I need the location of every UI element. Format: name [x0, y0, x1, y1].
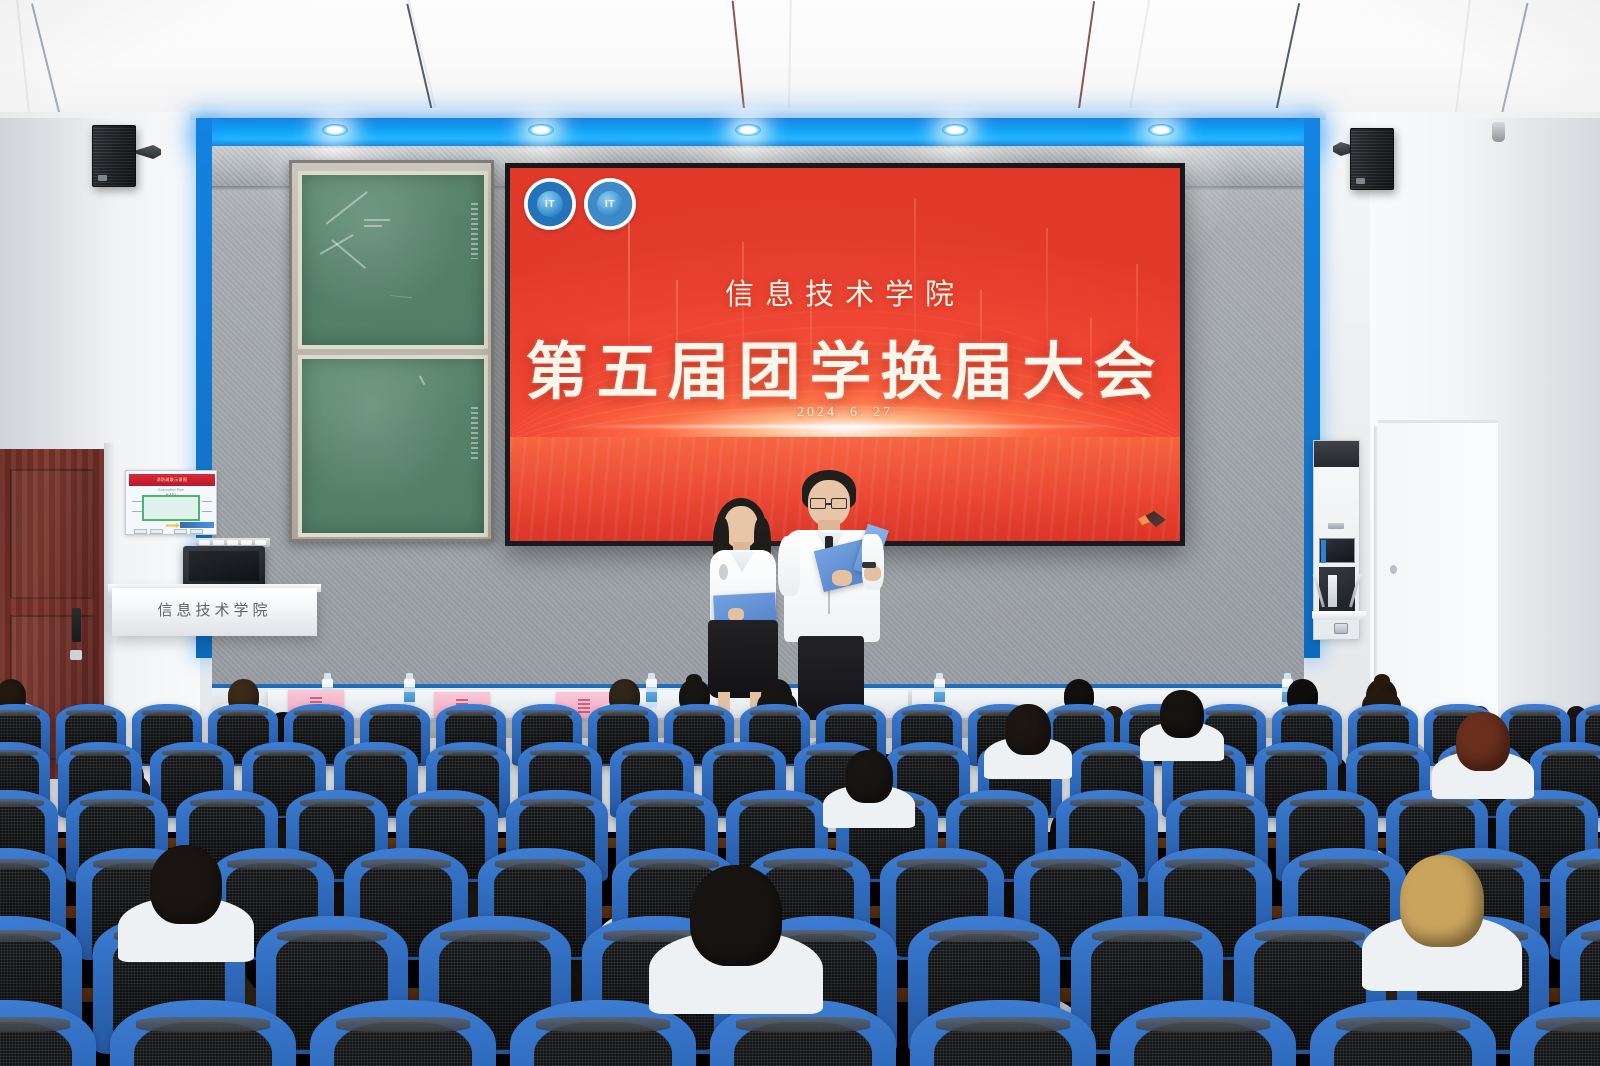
seat-headrest-bar — [520, 799, 593, 807]
seat-headrest-bar — [218, 710, 268, 716]
seat-headrest-bar — [1536, 1017, 1600, 1032]
seat-headrest-bar — [1567, 859, 1600, 869]
seat-headrest-bar — [1282, 710, 1332, 716]
ceiling-downlight — [1148, 124, 1174, 136]
ceiling-downlight — [735, 124, 761, 136]
ceiling-downlight — [528, 124, 554, 136]
audience-member-mid-right — [1005, 704, 1051, 755]
seat-headrest-bar — [136, 1017, 270, 1032]
seat-headrest-bar — [522, 710, 572, 716]
seat-headrest-bar — [714, 750, 774, 757]
seat-headrest-bar — [438, 750, 498, 757]
seat-headrest-bar — [960, 799, 1033, 807]
male-host-watch-icon — [862, 562, 876, 568]
seat-headrest-bar — [495, 859, 584, 869]
seat-headrest-bar — [736, 1017, 870, 1032]
seat-headrest-bar — [346, 750, 406, 757]
poster-header-text: 消防疏散示意图 — [157, 477, 188, 483]
seat-headrest-bar — [294, 710, 344, 716]
seat-headrest-bar — [0, 710, 40, 716]
seat-headrest-bar — [1070, 799, 1143, 807]
seat-headrest-bar — [929, 930, 1038, 942]
poster-exit-arrow-icon — [166, 523, 180, 528]
ceiling-downlight — [942, 124, 968, 136]
security-camera-icon — [1492, 122, 1505, 142]
seat-headrest-bar — [410, 799, 483, 807]
control-panel-display[interactable] — [1319, 538, 1355, 563]
screen-subtitle: 信息技术学院 — [510, 271, 1180, 313]
poster-legend-bar — [180, 522, 214, 528]
male-host-glasses-bridge — [826, 503, 831, 505]
it-college-emblem-pink-icon: IT — [584, 178, 636, 230]
seat-headrest-bar — [0, 1017, 70, 1032]
seat-headrest-bar — [826, 710, 876, 716]
seat-headrest-bar — [1092, 930, 1201, 942]
seat-headrest-bar — [336, 1017, 470, 1032]
audience-member-foreground-left — [150, 845, 222, 924]
seat-headrest-bar — [674, 710, 724, 716]
door-lock-icon — [70, 650, 82, 660]
seat-headrest-bar — [1266, 750, 1326, 757]
seat-headrest-bar — [630, 799, 703, 807]
seat-headrest-bar — [902, 710, 952, 716]
microphone-right-icon[interactable] — [1349, 574, 1361, 608]
auditorium-seat[interactable] — [0, 1000, 96, 1066]
seat-headrest-bar — [530, 750, 590, 757]
control-panel-remote[interactable] — [1328, 575, 1337, 607]
lecture-hall-scene: IT IT 信息技术学院 第五届团学换届大会 2024. 6. 27 消防疏散示… — [0, 0, 1600, 1066]
seat-headrest-bar — [1054, 710, 1104, 716]
evacuation-plan-poster: 消防疏散示意图 Evacuation Plan A-101 — [125, 470, 217, 535]
seat-headrest-bar — [361, 859, 450, 869]
seat-headrest-bar — [300, 799, 373, 807]
seat-headrest-bar — [0, 750, 38, 757]
auditorium-seat[interactable] — [110, 1000, 296, 1066]
audience-member-foreground-blonde — [1400, 855, 1484, 947]
seat-headrest-bar — [1165, 859, 1254, 869]
wall-speaker-left — [92, 125, 136, 187]
seat-headrest-bar — [190, 799, 263, 807]
audience-member-right-curly — [1456, 712, 1510, 771]
seat-headrest-bar — [66, 710, 116, 716]
seat-headrest-bar — [1082, 750, 1142, 757]
seat-headrest-bar — [936, 1017, 1070, 1032]
podium-label: 信息技术学院 — [112, 599, 317, 620]
right-door-handle[interactable] — [1390, 565, 1397, 574]
seat-headrest-bar — [750, 710, 800, 716]
seat-headrest-bar — [1336, 1017, 1470, 1032]
seat-headrest-bar — [142, 710, 192, 716]
door-panel-upper — [10, 469, 94, 599]
podium: 信息技术学院 — [112, 588, 317, 636]
screen-main-title: 第五届团学换届大会 — [510, 321, 1180, 411]
seat-headrest-bar — [0, 930, 61, 942]
male-host — [778, 470, 886, 720]
audience-member-foreground-center — [690, 865, 782, 966]
seat-headrest-bar — [1542, 750, 1600, 757]
door-handle[interactable] — [72, 608, 81, 642]
audience-member-hair-bun — [1374, 674, 1390, 688]
male-host-glasses-right-icon — [831, 498, 847, 509]
poster-header: 消防疏散示意图 — [129, 474, 215, 486]
seat-headrest-bar — [1510, 799, 1583, 807]
control-panel-header — [1314, 441, 1359, 467]
it-college-emblem-blue-icon: IT — [524, 178, 576, 230]
seat-headrest-bar — [1358, 750, 1418, 757]
seat-headrest-bar — [1180, 799, 1253, 807]
audience-member-glasses — [845, 750, 893, 803]
seat-headrest-bar — [1136, 1017, 1270, 1032]
screen-logos: IT IT — [524, 178, 636, 230]
blackboard — [289, 160, 494, 542]
seat-headrest-bar — [162, 750, 222, 757]
seat-headrest-bar — [598, 710, 648, 716]
seat-headrest-bar — [70, 750, 130, 757]
seat-headrest-bar — [440, 930, 549, 942]
female-host-corsage-icon — [719, 564, 728, 580]
seat-headrest-bar — [80, 799, 153, 807]
ceiling-downlight — [322, 124, 348, 136]
screen-horizon-glow — [564, 425, 1127, 428]
emblem-core-blue: IT — [537, 191, 563, 217]
seat-headrest-bar — [446, 710, 496, 716]
seat-headrest-bar — [370, 710, 420, 716]
seat-headrest-bar — [622, 750, 682, 757]
seat-headrest-bar — [1358, 710, 1408, 716]
screen-date: 2024. 6. 27 — [510, 405, 1180, 421]
seat-headrest-bar — [897, 859, 986, 869]
auditorium-seat[interactable] — [1510, 1000, 1600, 1066]
auditorium-seat[interactable] — [1310, 1000, 1496, 1066]
power-outlet-icon — [1334, 623, 1348, 634]
seat-headrest-bar — [0, 859, 49, 869]
seat-headrest-bar — [277, 930, 386, 942]
emblem-core-pink: IT — [597, 191, 623, 217]
seat-headrest-bar — [898, 750, 958, 757]
seat-headrest-bar — [1206, 710, 1256, 716]
male-host-hand-left — [832, 570, 852, 586]
poster-floor-map — [142, 495, 200, 521]
microphone-left-icon[interactable] — [1313, 574, 1325, 608]
auditorium-seat[interactable] — [910, 1000, 1096, 1066]
ceiling — [0, 0, 1600, 118]
control-panel-shelf — [1312, 611, 1366, 620]
audience-member-back-right — [1160, 690, 1204, 738]
seat-headrest-bar — [1290, 799, 1363, 807]
male-host-arm-left — [778, 536, 800, 596]
av-control-panel[interactable] — [1313, 440, 1360, 640]
seat-headrest-bar — [254, 750, 314, 757]
seat-headrest-bar — [1510, 710, 1560, 716]
seat-headrest-bar — [740, 799, 813, 807]
auditorium-seat[interactable] — [310, 1000, 496, 1066]
auditorium-seat[interactable] — [1110, 1000, 1296, 1066]
seat-headrest-bar — [763, 859, 852, 869]
seat-headrest-bar — [1255, 930, 1364, 942]
seat-headrest-bar — [536, 1017, 670, 1032]
male-host-glasses-left-icon — [810, 498, 826, 509]
seat-headrest-bar — [1299, 859, 1388, 869]
blackboard-panel-lower — [298, 355, 488, 537]
wall-speaker-right — [1350, 128, 1394, 190]
seat-headrest-bar — [1400, 799, 1473, 807]
control-panel-badge-icon — [1328, 523, 1344, 529]
blackboard-panel-upper — [298, 171, 488, 349]
seat-headrest-bar — [0, 799, 44, 807]
seat-headrest-bar — [629, 859, 718, 869]
seat-headrest-bar — [1586, 710, 1600, 716]
male-host-hand-right — [864, 566, 881, 581]
seat-headrest-bar — [227, 859, 316, 869]
control-panel-dock[interactable] — [1319, 567, 1355, 613]
seat-headrest-bar — [1031, 859, 1120, 869]
